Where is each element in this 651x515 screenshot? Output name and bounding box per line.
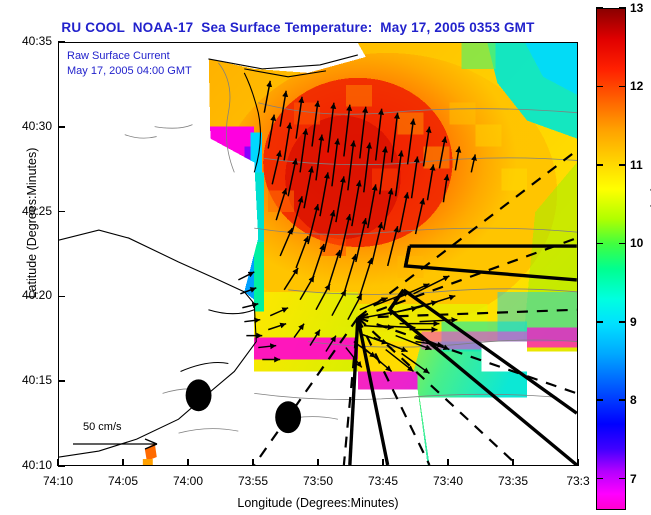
colorbar-tick-label: 10 — [630, 236, 643, 250]
scale-legend-label: 50 cm/s — [83, 421, 171, 433]
x-tick-mark — [577, 459, 579, 466]
x-tick-label: 73:35 — [483, 474, 543, 488]
colorbar-tick-label: 9 — [630, 315, 637, 329]
y-tick-label: 40:15 — [0, 373, 52, 387]
y-tick-mark — [58, 465, 65, 467]
colorbar-tick-mark — [596, 478, 603, 480]
y-tick-mark — [58, 126, 65, 128]
temperature-colorbar — [596, 8, 626, 510]
colorbar-tick-mark — [596, 164, 603, 166]
y-tick-label: 40:10 — [0, 458, 52, 472]
x-tick-mark — [187, 459, 189, 466]
page-title: RU COOL NOAA-17 Sea Surface Temperature:… — [0, 20, 596, 35]
y-axis-title: Latitude (Degrees:Minutes) — [25, 103, 39, 343]
colorbar-tick-mark — [596, 399, 603, 401]
x-tick-label: 74:00 — [158, 474, 218, 488]
colorbar-tick-mark — [619, 321, 626, 323]
vector-scale-legend: 50 cm/s — [71, 421, 171, 458]
y-tick-mark — [58, 211, 65, 213]
y-tick-label: 40:35 — [0, 34, 52, 48]
x-tick-mark — [382, 459, 384, 466]
colorbar-tick-mark — [596, 86, 603, 88]
x-tick-mark — [317, 459, 319, 466]
colorbar-tick-mark — [619, 478, 626, 480]
x-tick-label: 73:50 — [288, 474, 348, 488]
x-tick-mark — [122, 459, 124, 466]
x-tick-mark — [512, 459, 514, 466]
coastal-warm-pixel — [59, 43, 577, 465]
colorbar-tick-mark — [619, 399, 626, 401]
x-axis-title: Longitude (Degrees:Minutes) — [58, 496, 578, 510]
scale-arrow-icon — [71, 433, 171, 453]
colorbar-tick-label: 8 — [630, 393, 637, 407]
annotation-line-2: May 17, 2005 04:00 GMT — [67, 65, 192, 77]
x-tick-mark — [252, 459, 254, 466]
colorbar-tick-mark — [596, 243, 603, 245]
colorbar-tick-mark — [619, 86, 626, 88]
x-tick-mark — [447, 459, 449, 466]
colorbar-tick-label: 11 — [630, 158, 643, 172]
x-tick-label: 73:55 — [223, 474, 283, 488]
x-tick-label: 73:45 — [353, 474, 413, 488]
colorbar-tick-mark — [619, 164, 626, 166]
x-tick-label: 73:40 — [418, 474, 478, 488]
colorbar-tick-mark — [596, 7, 603, 9]
colorbar-tick-label: 12 — [630, 79, 643, 93]
y-tick-mark — [58, 41, 65, 43]
raw-current-annotation: Raw Surface Current May 17, 2005 04:00 G… — [67, 49, 192, 79]
colorbar-tick-label: 13 — [630, 1, 643, 15]
annotation-line-1: Raw Surface Current — [67, 50, 170, 62]
colorbar-tick-mark — [596, 321, 603, 323]
x-tick-label: 74:10 — [28, 474, 88, 488]
x-tick-label: 74:05 — [93, 474, 153, 488]
y-tick-mark — [58, 380, 65, 382]
y-tick-mark — [58, 296, 65, 298]
colorbar-tick-mark — [619, 243, 626, 245]
colorbar-tick-mark — [619, 7, 626, 9]
sst-map-plot: Raw Surface Current May 17, 2005 04:00 G… — [58, 42, 578, 466]
colorbar-tick-label: 7 — [630, 472, 637, 486]
